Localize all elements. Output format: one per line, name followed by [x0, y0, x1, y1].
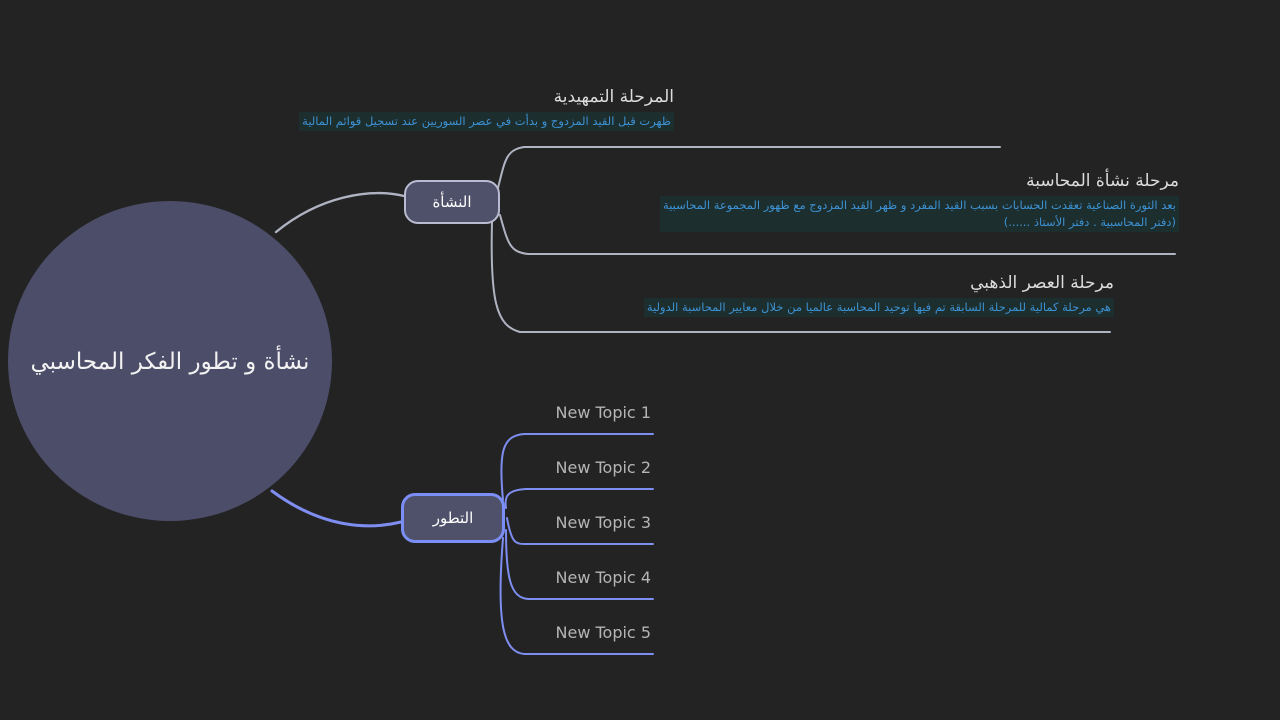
topic-node-new-3[interactable]: New Topic 3	[453, 513, 651, 532]
topic-node-2-description: بعد الثورة الصناعية تعقدت الحسابات بسبب …	[660, 196, 1179, 233]
topic-node-1-title: المرحلة التمهيدية	[174, 86, 674, 109]
root-node[interactable]: نشأة و تطور الفكر المحاسبي	[8, 201, 332, 521]
topic-node-new-4[interactable]: New Topic 4	[453, 568, 651, 587]
root-node-label: نشأة و تطور الفكر المحاسبي	[31, 348, 310, 378]
topic-node-new-1[interactable]: New Topic 1	[453, 403, 651, 422]
topic-node-1-description: ظهرت قبل القيد المزدوج و بدأت في عصر الس…	[299, 112, 674, 131]
topic-node-3-description: هي مرحلة كمالية للمرحلة السابقة تم فيها …	[644, 298, 1114, 317]
topic-node-3-title: مرحلة العصر الذهبي	[534, 272, 1114, 295]
topic-node-new-5[interactable]: New Topic 5	[453, 623, 651, 642]
topic-node-2[interactable]: مرحلة نشأة المحاسبة بعد الثورة الصناعية …	[99, 170, 1179, 232]
topic-node-2-title: مرحلة نشأة المحاسبة	[99, 170, 1179, 193]
topic-node-new-2[interactable]: New Topic 2	[453, 458, 651, 477]
topic-node-1[interactable]: المرحلة التمهيدية ظهرت قبل القيد المزدوج…	[174, 86, 674, 131]
mindmap-canvas[interactable]: نشأة و تطور الفكر المحاسبي النشأة المرحل…	[0, 0, 1280, 720]
topic-node-3[interactable]: مرحلة العصر الذهبي هي مرحلة كمالية للمرح…	[534, 272, 1114, 317]
